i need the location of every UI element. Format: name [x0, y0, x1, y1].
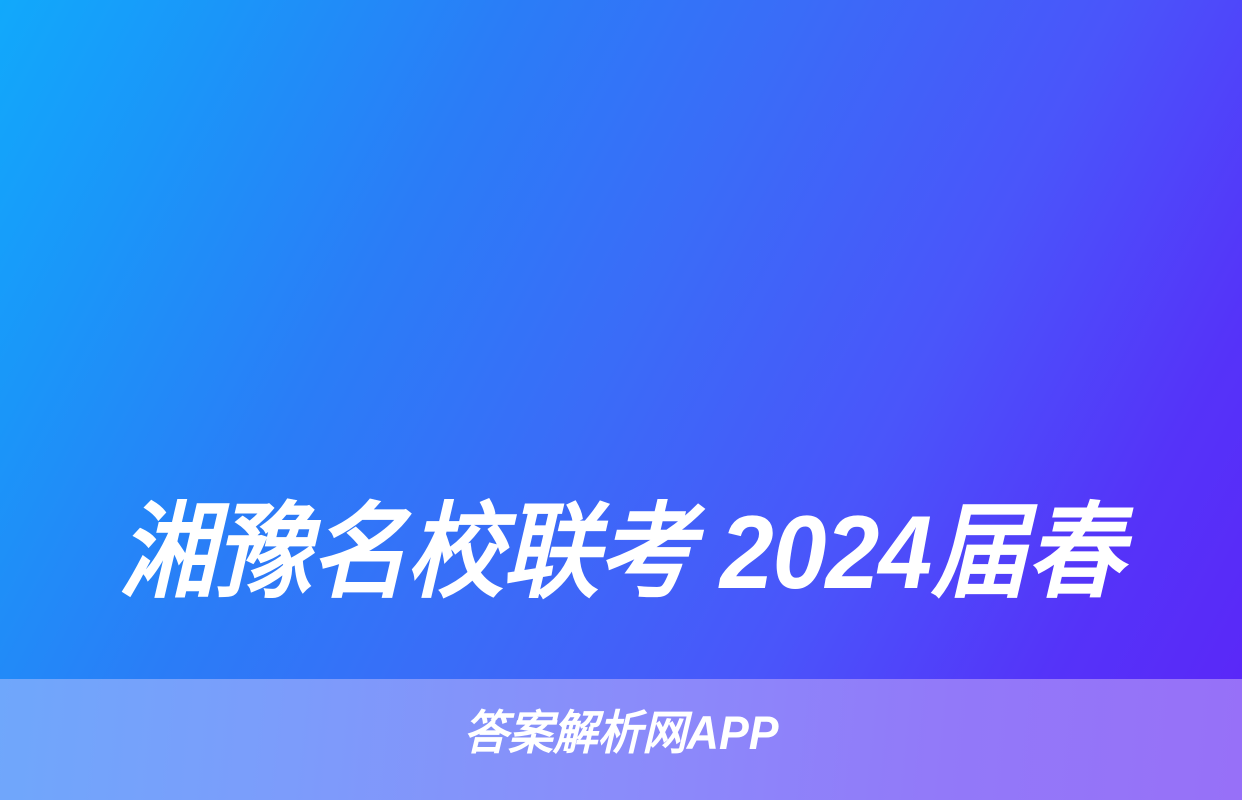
promo-title-card: 湘豫名校联考 2024届春 季学期高三考前保温卷试 题(英语 答案解析网APP: [0, 0, 1242, 800]
title-line-1: 湘豫名校联考 2024届春: [43, 480, 1198, 627]
watermark-brand: 答案解析网APP: [31, 704, 1211, 762]
